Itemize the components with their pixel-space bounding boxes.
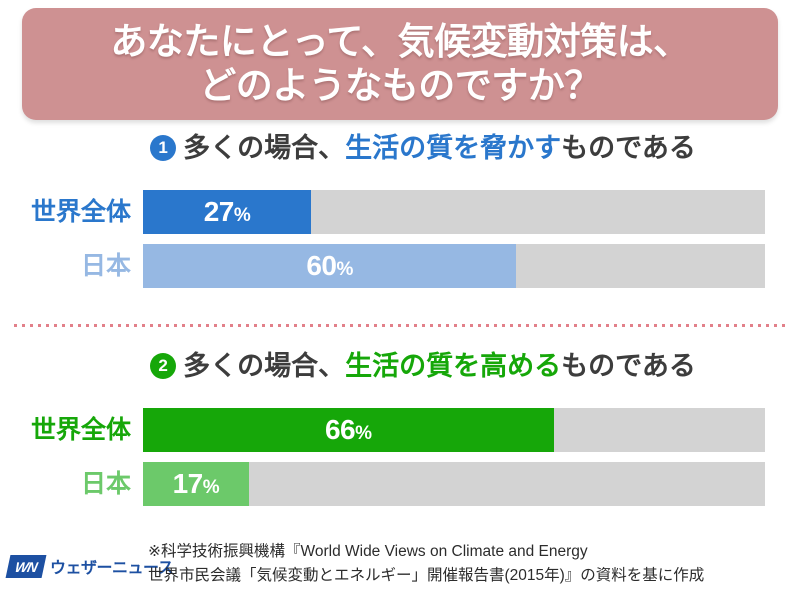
question-2-bar-group: 世界全体 66% 日本 17% [0, 408, 800, 506]
bar-label-japan-q2: 日本 [0, 462, 131, 506]
bar-track-japan-q2: 17% [143, 462, 765, 506]
question-1-number-badge: 1 [150, 135, 176, 161]
question-1-prefix: 多くの場合、 [183, 133, 345, 163]
bar-fill-japan-q2: 17% [143, 462, 249, 506]
bar-value-japan-q1: 60% [306, 250, 353, 282]
question-2-highlight: 生活の質を高める [345, 351, 561, 381]
section-divider [14, 324, 786, 327]
question-2-text: 2多くの場合、生活の質を高めるものである [0, 352, 800, 392]
question-section-1: 1多くの場合、生活の質を脅かすものである 世界全体 27% 日本 60% [0, 134, 800, 298]
bar-fill-world-q2: 66% [143, 408, 554, 452]
bar-track-world-q2: 66% [143, 408, 765, 452]
bar-value-world-q2: 66% [325, 414, 372, 446]
bar-track-japan-q1: 60% [143, 244, 765, 288]
question-2-prefix: 多くの場合、 [183, 351, 345, 381]
bar-row: 世界全体 27% [0, 190, 800, 234]
bar-row: 世界全体 66% [0, 408, 800, 452]
bar-track-world-q1: 27% [143, 190, 765, 234]
source-note: ※科学技術振興機構『World Wide Views on Climate an… [148, 540, 704, 588]
bar-value-japan-q2: 17% [173, 468, 220, 500]
question-1-text: 1多くの場合、生活の質を脅かすものである [0, 134, 800, 174]
source-note-line-1: ※科学技術振興機構『World Wide Views on Climate an… [148, 540, 704, 564]
bar-value-world-q1: 27% [204, 196, 251, 228]
bar-fill-japan-q1: 60% [143, 244, 516, 288]
bar-label-world-q1: 世界全体 [0, 190, 131, 234]
bar-fill-world-q1: 27% [143, 190, 311, 234]
bar-row: 日本 60% [0, 244, 800, 288]
question-2-suffix: ものである [561, 351, 696, 381]
source-note-line-2: 世界市民会議「気候変動とエネルギー」開催報告書(2015年)』の資料を基に作成 [148, 564, 704, 588]
header-title-line-2: どのようなものですか？ [199, 64, 601, 108]
footer: WN ウェザーニュース ※科学技術振興機構『World Wide Views o… [0, 538, 800, 600]
question-1-suffix: ものである [561, 133, 696, 163]
question-1-highlight: 生活の質を脅かす [345, 133, 561, 163]
bar-row: 日本 17% [0, 462, 800, 506]
header-title-line-1: あなたにとって、気候変動対策は、 [110, 20, 689, 64]
question-1-bar-group: 世界全体 27% 日本 60% [0, 190, 800, 288]
bar-label-japan-q1: 日本 [0, 244, 131, 288]
question-section-2: 2多くの場合、生活の質を高めるものである 世界全体 66% 日本 17% [0, 352, 800, 516]
question-2-number-badge: 2 [150, 353, 176, 379]
bar-label-world-q2: 世界全体 [0, 408, 131, 452]
wn-logo-icon: WN [6, 555, 47, 578]
header-banner: あなたにとって、気候変動対策は、 どのようなものですか？ [22, 8, 778, 120]
